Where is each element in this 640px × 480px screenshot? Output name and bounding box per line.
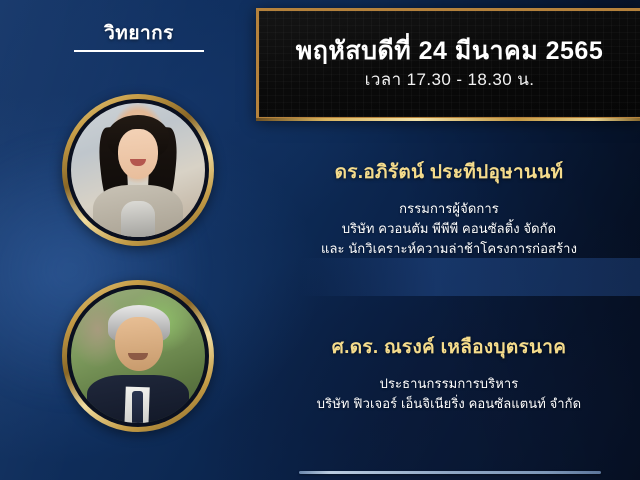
speaker-detail-line: บริษัท ควอนตัม พีพีพี คอนซัลติ้ง จัดกัด [264, 219, 634, 239]
speaker-detail-line: กรรมการผู้จัดการ [264, 199, 634, 219]
date-time-box: พฤหัสบดีที่ 24 มีนาคม 2565 เวลา 17.30 - … [256, 8, 640, 120]
event-time: เวลา 17.30 - 18.30 น. [365, 70, 535, 90]
speaker-avatar-1 [62, 94, 214, 246]
bottom-divider [299, 471, 601, 474]
photo-2-face [115, 317, 163, 371]
photo-1-face [118, 129, 158, 179]
photo-1-backdrop [71, 103, 205, 237]
speaker-detail-line: ประธานกรรมการบริหาร [264, 374, 634, 394]
speakers-heading: วิทยากร [74, 18, 204, 52]
photo-2-backdrop [71, 289, 205, 423]
speaker-details-2: ประธานกรรมการบริหาร บริษัท ฟิวเจอร์ เอ็น… [264, 374, 634, 414]
speaker-info-1: ดร.อภิรัตน์ ประทีปอุษานนท์ กรรมการผู้จัด… [258, 162, 640, 259]
speaker-name-2: ศ.ดร. ณรงค์ เหลืองบุตรนาค [264, 337, 634, 360]
speaker-detail-line: บริษัท ฟิวเจอร์ เอ็นจิเนียริ่ง คอนซัลแตน… [264, 394, 634, 414]
speaker-avatar-2 [62, 280, 214, 432]
photo-1-shirt [121, 201, 155, 237]
event-date: พฤหัสบดีที่ 24 มีนาคม 2565 [296, 37, 604, 66]
seminar-poster: พฤหัสบดีที่ 24 มีนาคม 2565 เวลา 17.30 - … [0, 0, 640, 480]
background-band [300, 258, 640, 296]
speaker-photo-1 [71, 103, 205, 237]
speaker-name-1: ดร.อภิรัตน์ ประทีปอุษานนท์ [264, 162, 634, 185]
speaker-detail-line: และ นักวิเคราะห์ความล่าช้าโครงการก่อสร้า… [264, 239, 634, 259]
speaker-details-1: กรรมการผู้จัดการ บริษัท ควอนตัม พีพีพี ค… [264, 199, 634, 259]
photo-2-tie [132, 391, 143, 423]
speaker-info-2: ศ.ดร. ณรงค์ เหลืองบุตรนาค ประธานกรรมการบ… [258, 337, 640, 414]
speaker-photo-2 [71, 289, 205, 423]
